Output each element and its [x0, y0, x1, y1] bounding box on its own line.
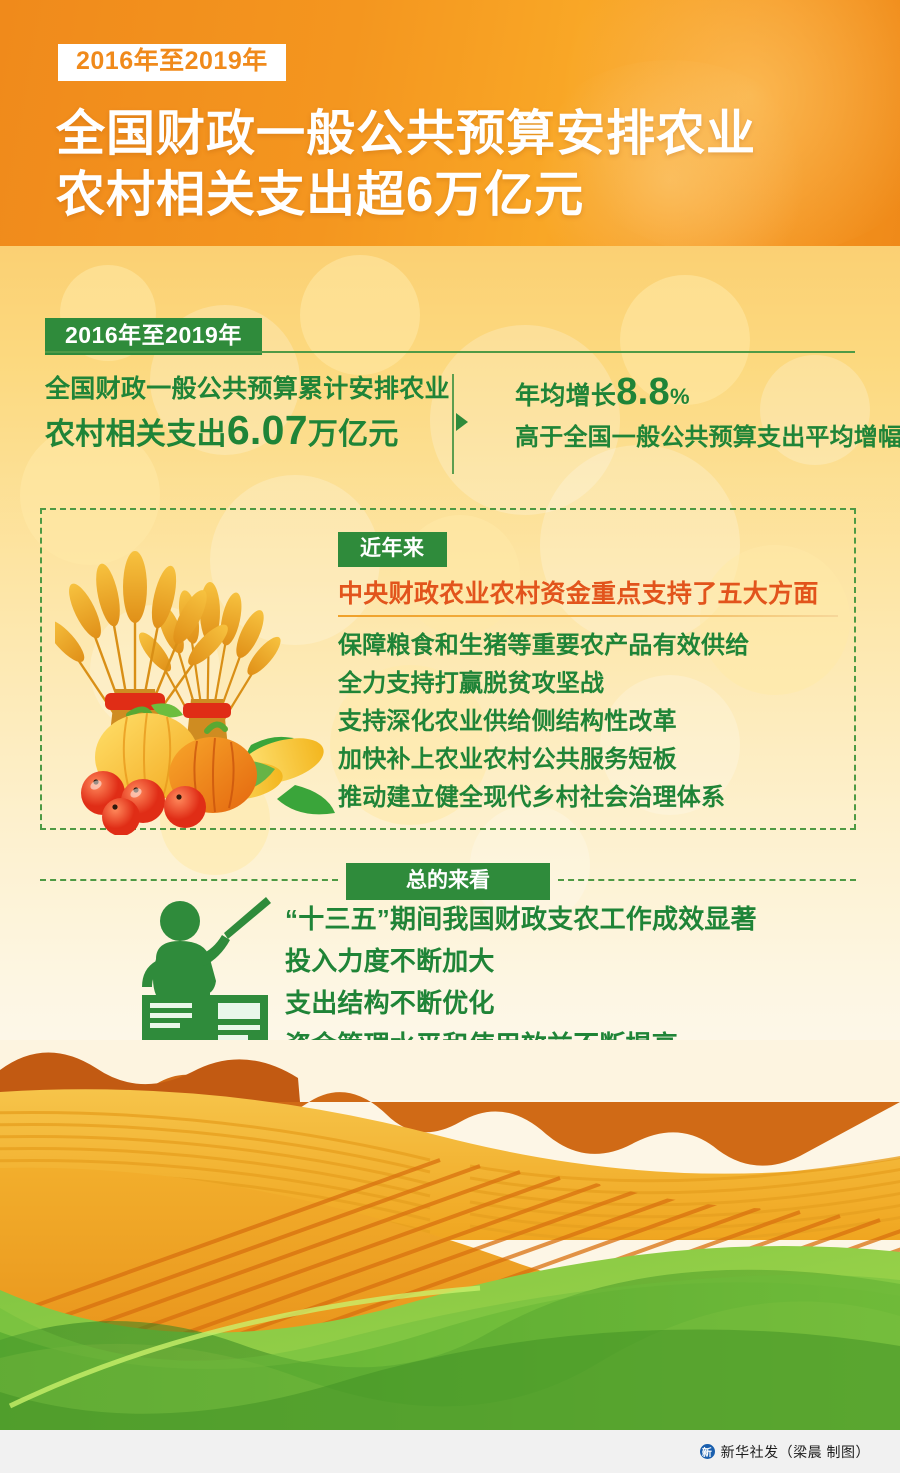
stat-growth-rate: 年均增长8.8% 高于全国一般公共预算支出平均增幅	[515, 372, 857, 459]
stat-growth-label: 年均增长	[515, 382, 616, 410]
credit-line: 新 新华社发（梁晨 制图）	[700, 1442, 870, 1462]
harvest-illustration	[55, 545, 345, 835]
stat-total-prefix: 农村相关支出	[45, 418, 227, 451]
stat-total-unit: 万亿元	[308, 418, 399, 451]
stats-rule	[45, 351, 855, 353]
list-item: 全力支持打赢脱贫攻坚战	[338, 665, 838, 703]
header-eyebrow-badge: 2016年至2019年	[58, 44, 286, 81]
stats-band: 全国财政一般公共预算累计安排农业 农村相关支出6.07万亿元 年均增长8.8% …	[45, 372, 857, 478]
xinhua-logo-icon: 新	[700, 1444, 715, 1459]
page-title: 全国财政一般公共预算安排农业 农村相关支出超6万亿元	[56, 104, 856, 226]
focus-list-block: 近年来 中央财政农业农村资金重点支持了五大方面 保障粮食和生猪等重要农产品有效供…	[338, 532, 838, 817]
farmland-landscape-illustration	[0, 1040, 900, 1430]
list-item: 保障粮食和生猪等重要农产品有效供给	[338, 627, 838, 665]
stat-total-value-row: 农村相关支出6.07万亿元	[45, 406, 477, 459]
focus-recent-badge: 近年来	[338, 532, 447, 567]
list-item: “十三五”期间我国财政支农工作成效显著	[285, 898, 845, 940]
footer-bar: 新 新华社发（梁晨 制图）	[0, 1430, 900, 1473]
focus-list-title: 中央财政农业农村资金重点支持了五大方面	[338, 577, 838, 611]
summary-dash-left	[40, 879, 338, 881]
page-title-line1: 全国财政一般公共预算安排农业	[56, 107, 756, 161]
focus-title-underline	[338, 615, 838, 617]
credit-text: 新华社发（梁晨 制图）	[721, 1442, 870, 1462]
page-title-line2: 农村相关支出超6万亿元	[56, 165, 856, 226]
infographic-poster: 2016年至2019年 全国财政一般公共预算安排农业 农村相关支出超6万亿元 2…	[0, 0, 900, 1473]
teacher-pointer-icon	[140, 897, 272, 1049]
summary-badge: 总的来看	[346, 863, 550, 900]
summary-dash-right	[558, 879, 856, 881]
list-item: 投入力度不断加大	[285, 940, 845, 982]
stat-total-label: 全国财政一般公共预算累计安排农业	[45, 372, 477, 406]
arrow-right-icon	[456, 413, 468, 431]
list-item: 推动建立健全现代乡村社会治理体系	[338, 779, 838, 817]
list-item: 加快补上农业农村公共服务短板	[338, 741, 838, 779]
stat-total-value: 6.07	[227, 407, 308, 453]
stats-period-badge: 2016年至2019年	[45, 318, 262, 355]
stat-growth-note: 高于全国一般公共预算支出平均增幅	[515, 417, 857, 459]
summary-divider: 总的来看	[40, 863, 856, 897]
stat-growth-value: 8.8	[616, 371, 670, 413]
stats-divider	[452, 374, 454, 474]
stat-growth-row: 年均增长8.8%	[515, 372, 857, 417]
list-item: 支持深化农业供给侧结构性改革	[338, 703, 838, 741]
stat-total-expenditure: 全国财政一般公共预算累计安排农业 农村相关支出6.07万亿元	[45, 372, 477, 459]
stat-growth-unit: %	[670, 384, 690, 409]
list-item: 支出结构不断优化	[285, 982, 845, 1024]
